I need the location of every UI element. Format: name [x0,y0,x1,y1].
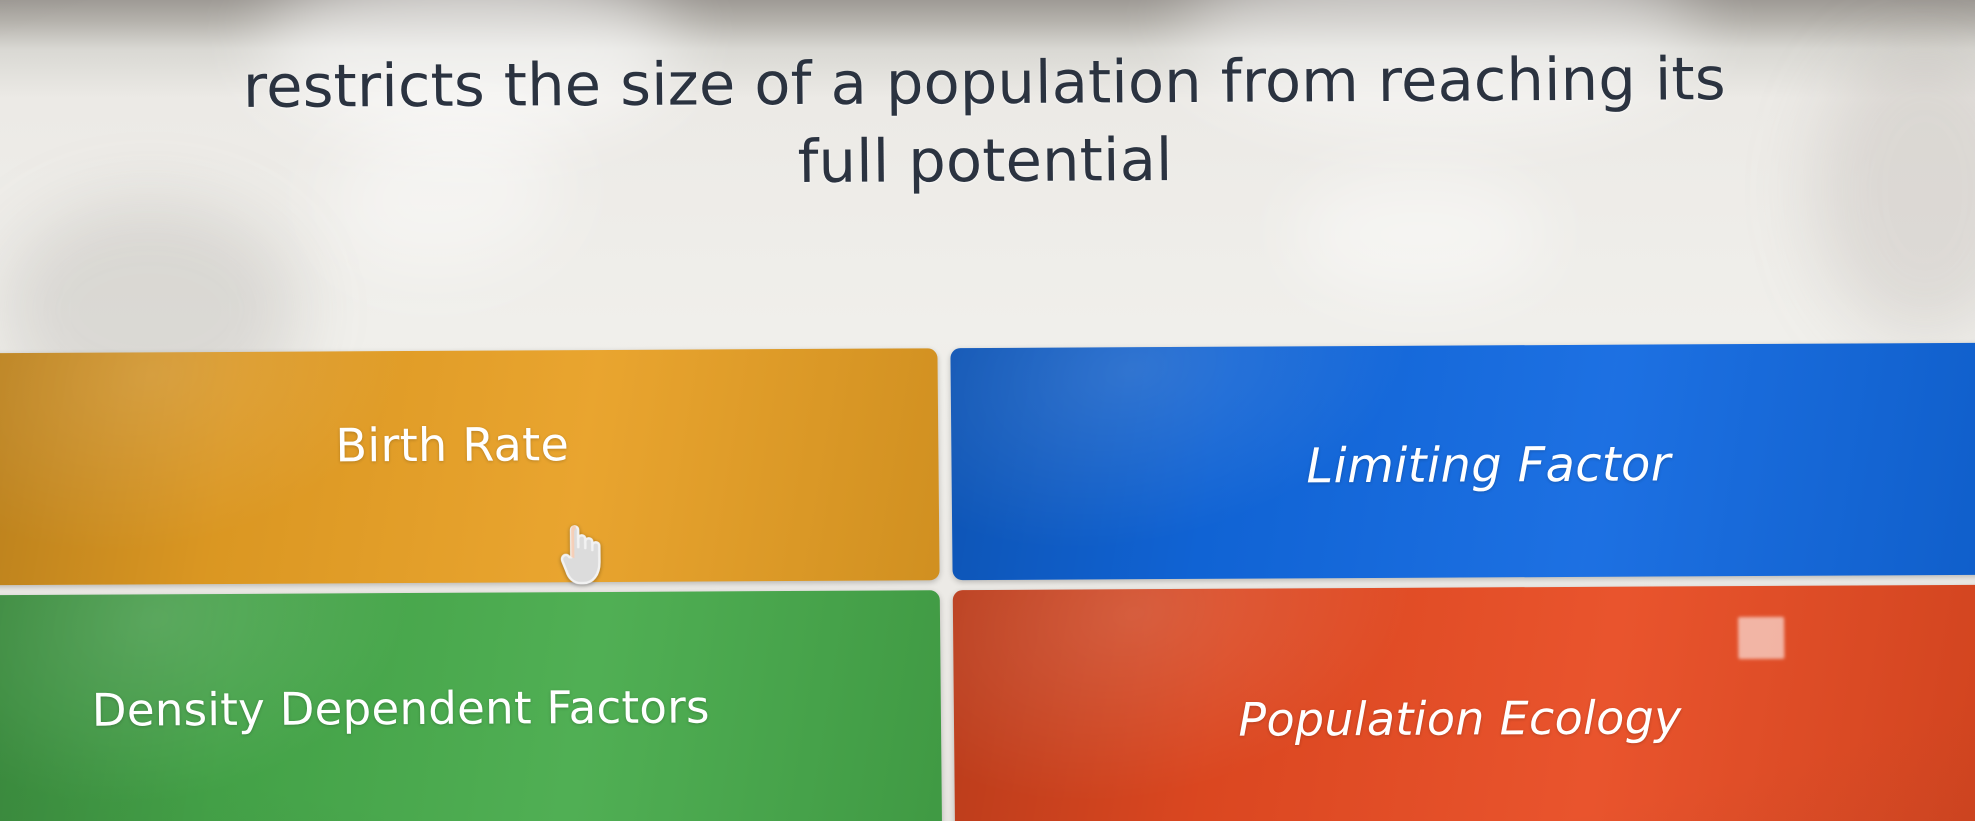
answer-option-limiting-factor[interactable]: Limiting Factor [950,343,1975,580]
answer-label: Density Dependent Factors [72,680,730,736]
screen-photo: restricts the size of a population from … [0,0,1975,821]
answer-option-population-ecology[interactable]: Population Ecology [953,585,1975,821]
answer-label: Birth Rate [315,417,589,472]
answer-label: Population Ecology [1218,690,1702,747]
answer-option-density-dependent-factors[interactable]: Density Dependent Factors [0,590,942,821]
answer-label: Limiting Factor [1286,436,1691,494]
question-line-2: full potential [0,117,1973,205]
answer-options-grid: Birth Rate Limiting Factor Density Depen… [0,343,1975,821]
question-line-1: restricts the size of a population from … [0,39,1972,127]
question-text: restricts the size of a population from … [0,39,1973,205]
quiz-screen: restricts the size of a population from … [0,0,1975,821]
pointer-hand-cursor [553,517,612,591]
glare-highlight [1738,617,1784,659]
answer-option-birth-rate[interactable]: Birth Rate [0,348,940,585]
